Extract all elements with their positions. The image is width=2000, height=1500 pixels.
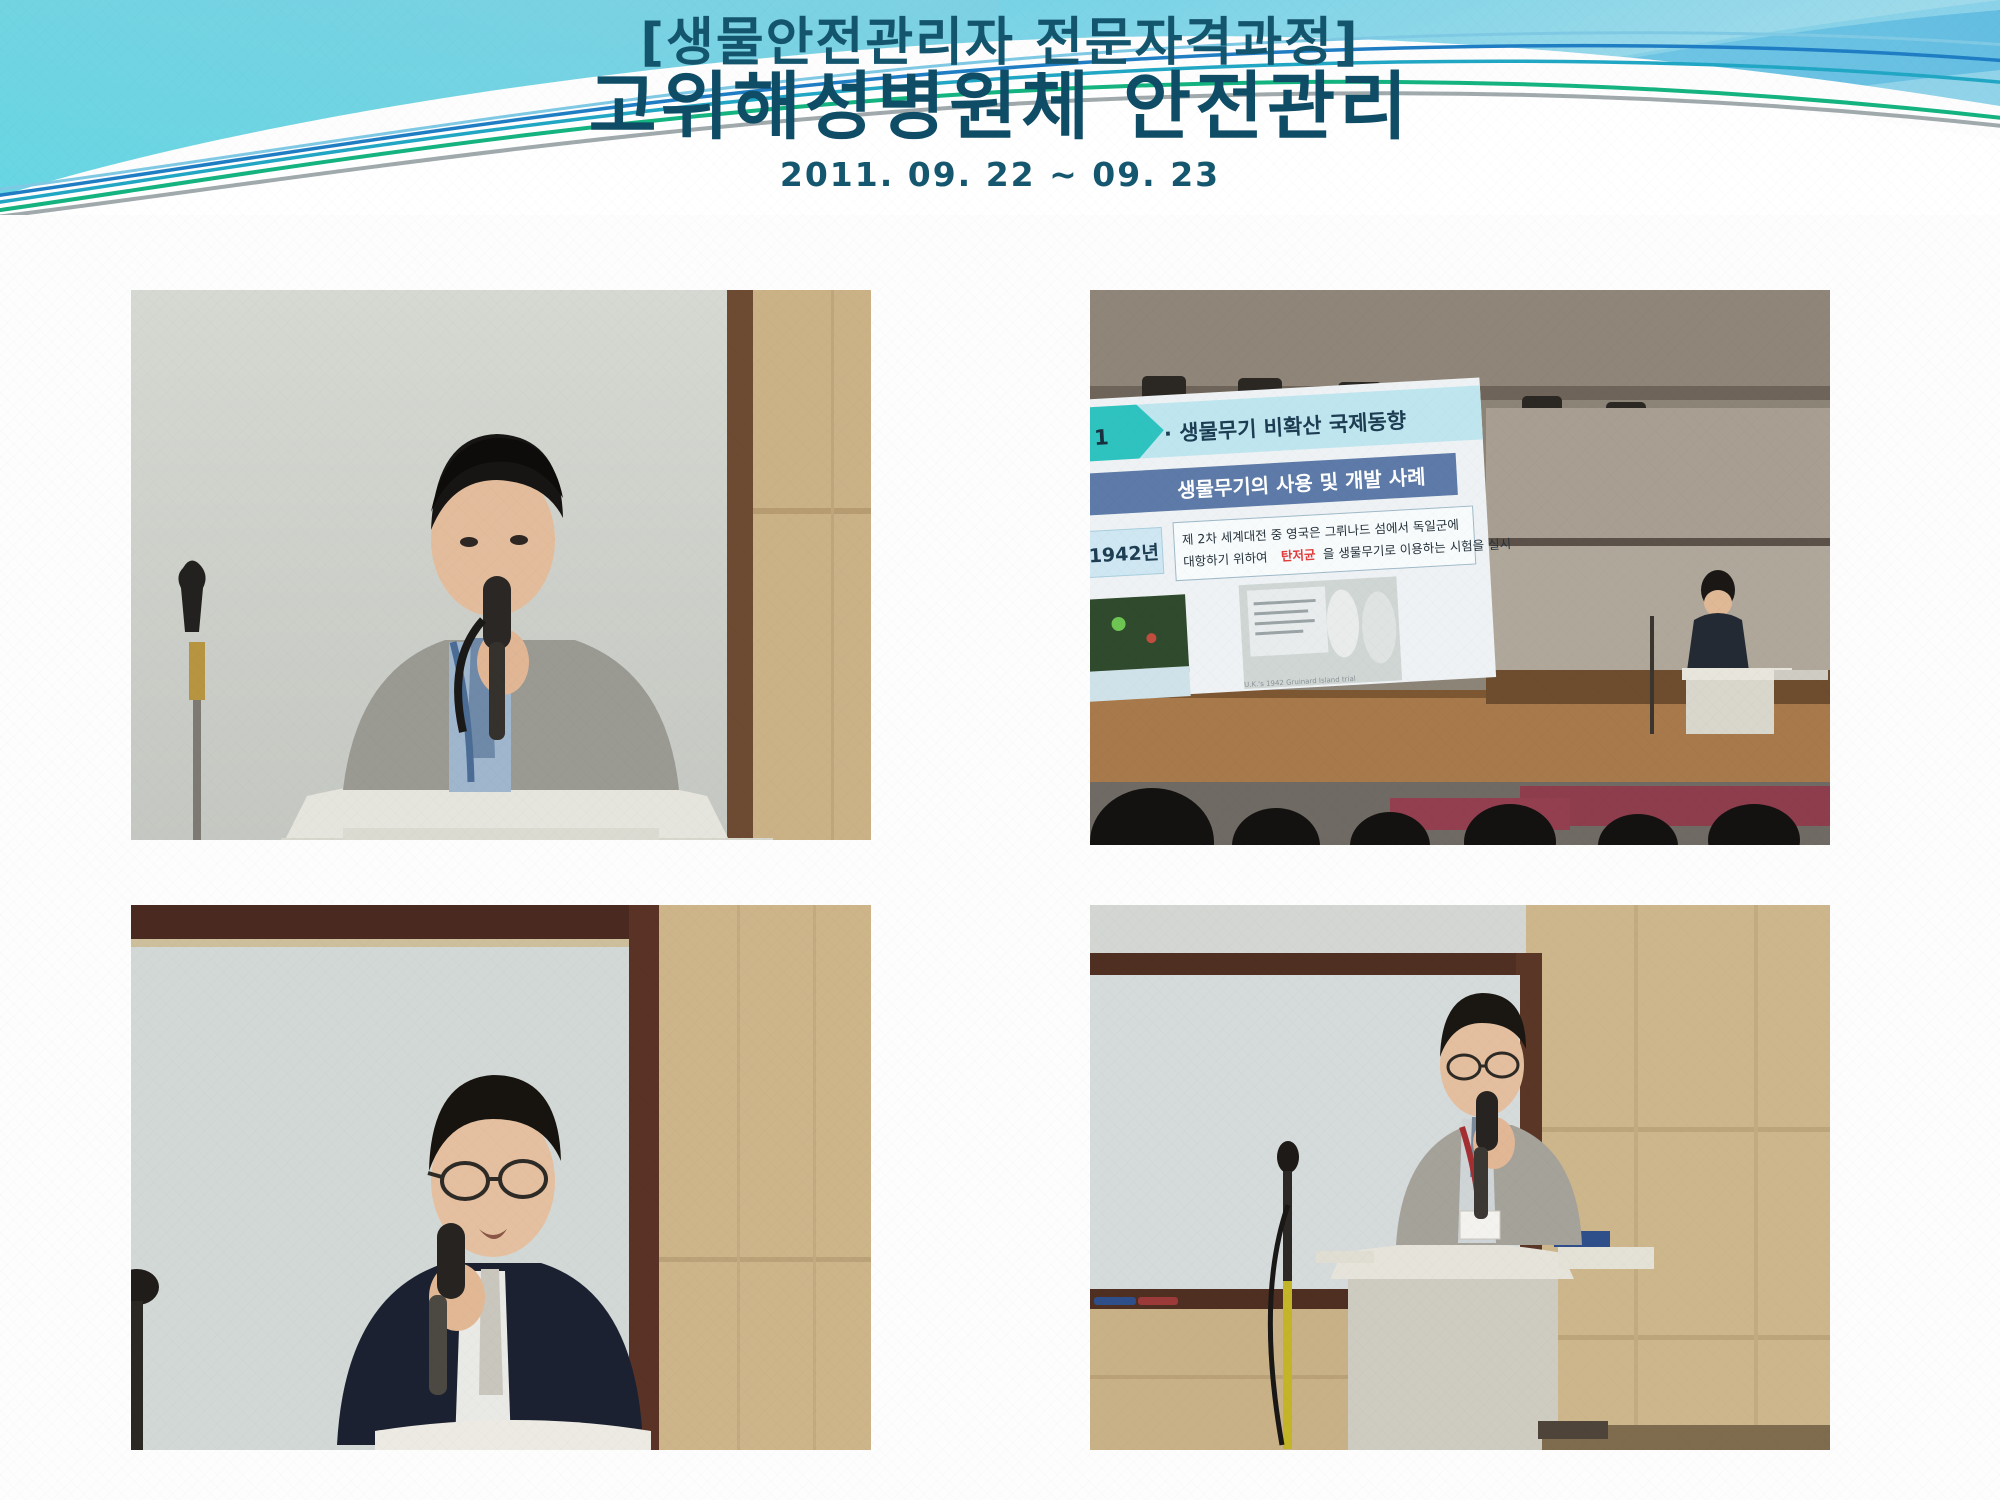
photo-speaker-with-microphone <box>131 905 871 1450</box>
slide-header-banner: [생물안전관리자 전문자격과정] 고위해성병원체 안전관리 2011. 09. … <box>0 0 2000 215</box>
svg-text:1: 1 <box>1093 425 1109 450</box>
photo-presenter-at-lectern <box>1090 905 1830 1450</box>
header-wave-graphic <box>0 0 2000 215</box>
photo-auditorium-projected-slide: 1 · 생물무기 비확산 국제동향 생물무기의 사용 및 개발 사례 1942년… <box>1090 290 1830 845</box>
photo-tl-image <box>131 290 871 840</box>
photo-tr-image: 1 · 생물무기 비확산 국제동향 생물무기의 사용 및 개발 사례 1942년… <box>1090 290 1830 845</box>
photo-br-image <box>1090 905 1830 1450</box>
photo-lecturer-at-podium <box>131 290 871 840</box>
svg-text:탄저균: 탄저균 <box>1281 547 1317 564</box>
svg-text:1942년: 1942년 <box>1090 542 1160 568</box>
photo-bl-image <box>131 905 871 1450</box>
slide-canvas: [생물안전관리자 전문자격과정] 고위해성병원체 안전관리 2011. 09. … <box>0 0 2000 1500</box>
